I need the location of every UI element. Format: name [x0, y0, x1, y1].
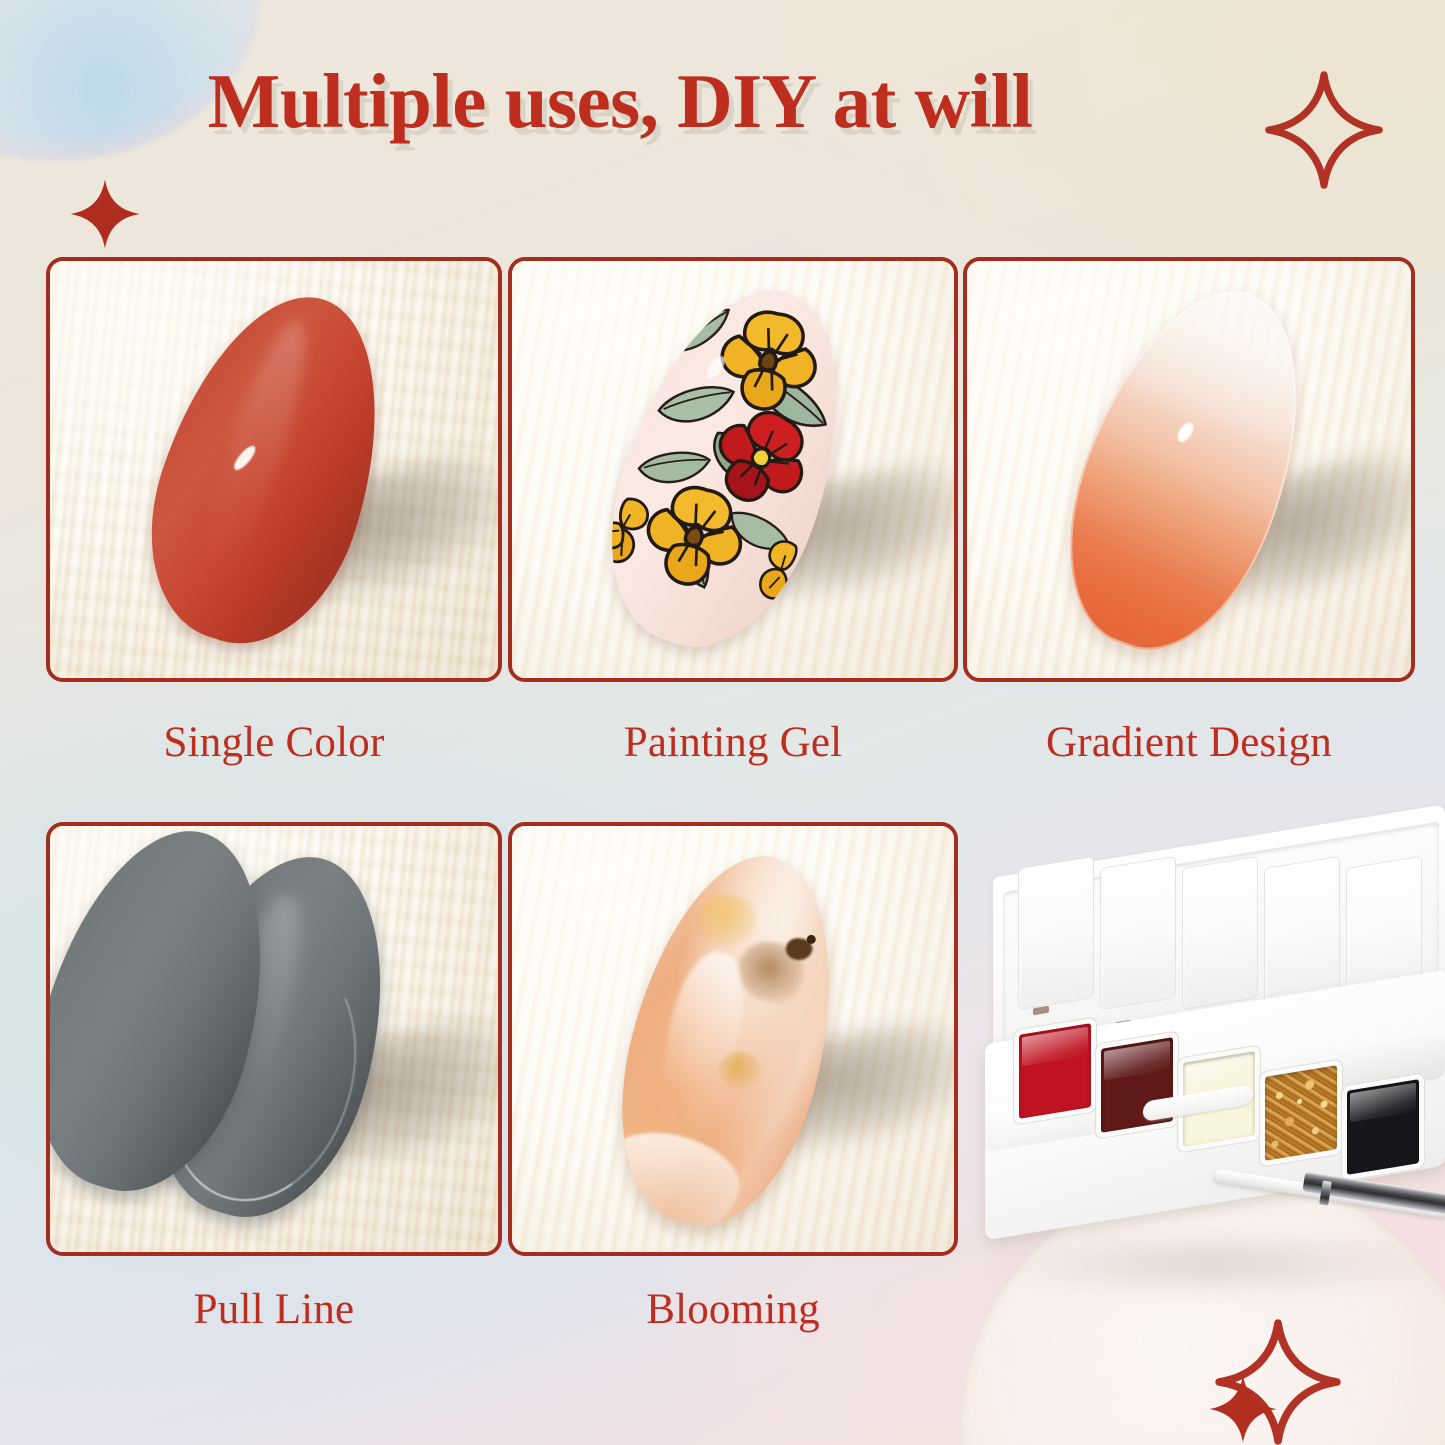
palette-lid-cell	[1019, 857, 1093, 1009]
palette-lid-cell	[1183, 857, 1257, 1009]
poster-canvas: Multiple uses, DIY at will	[0, 0, 1445, 1445]
feature-card-blooming[interactable]	[508, 822, 958, 1256]
feature-card-pull-line[interactable]	[46, 822, 502, 1256]
feature-label-painting-gel: Painting Gel	[508, 718, 958, 767]
well-gloss	[1022, 1027, 1088, 1066]
feature-label-pull-line: Pull Line	[46, 1285, 502, 1334]
feature-card-painting-gel[interactable]	[508, 257, 958, 682]
palette-lid-cell	[1101, 857, 1175, 1009]
sparkle-filled-icon	[69, 178, 141, 250]
well-gloss	[1104, 1041, 1170, 1080]
feature-label-blooming: Blooming	[508, 1285, 958, 1334]
feature-label-single-color: Single Color	[46, 718, 502, 767]
photo-orange-ombre-nail-tip	[967, 261, 1411, 678]
photo-floral-painted-nail-tip	[512, 261, 954, 678]
sparkle-filled-icon	[1208, 1374, 1278, 1444]
photo-red-glossy-nail-tip	[50, 261, 498, 678]
photo-gray-nail-tip-with-white-line	[50, 826, 498, 1252]
palette-well-black	[1347, 1079, 1419, 1175]
product-nail-gel-palette-case	[985, 835, 1445, 1285]
feature-label-gradient-design: Gradient Design	[963, 718, 1415, 767]
page-title: Multiple uses, DIY at will	[0, 57, 1240, 146]
sparkle-outline-icon	[1264, 70, 1384, 190]
palette-well-gold-foil	[1265, 1065, 1337, 1161]
photo-orange-marble-gold-foil-nail-tip	[512, 826, 954, 1252]
feature-card-gradient-design[interactable]	[963, 257, 1415, 682]
palette-lid-cell	[1265, 857, 1339, 1009]
feature-card-single-color[interactable]	[46, 257, 502, 682]
well-gloss	[1350, 1083, 1416, 1122]
palette-well-bright-red	[1019, 1023, 1091, 1119]
bloom-blob	[694, 888, 763, 952]
